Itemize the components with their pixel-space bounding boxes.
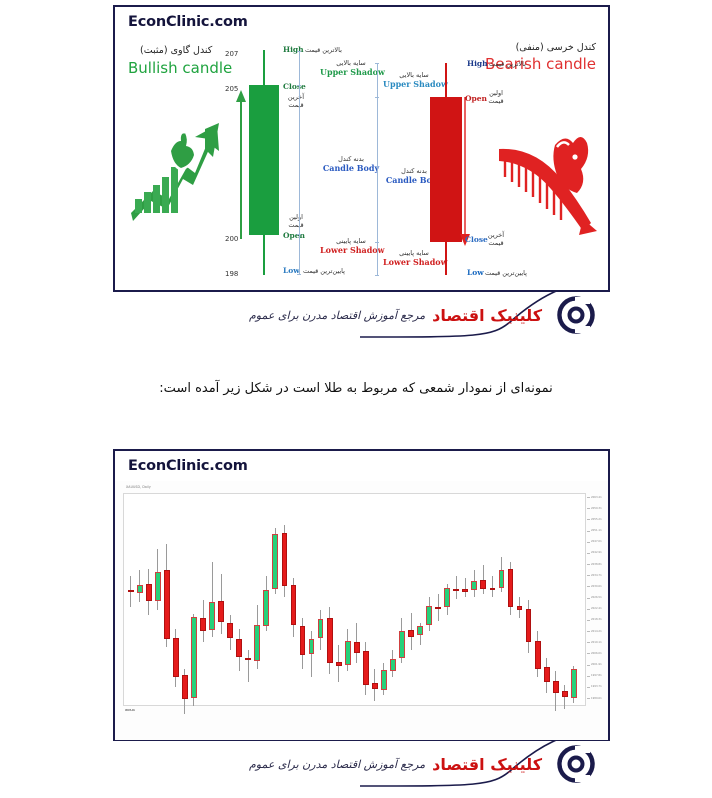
y-axis-tick-label: 2034.71 (591, 574, 602, 577)
bullish-close-label: Close (283, 82, 306, 91)
y-axis-tick-label: 2063.41 (591, 496, 602, 499)
candle-body-up (499, 570, 505, 587)
bearish-low-label-fa: پایین‌ترین قیمت (485, 269, 527, 277)
part-label-left-0: سایه بالاییUpper Shadow (320, 59, 382, 77)
bearish-high-label: High (467, 59, 488, 68)
y-axis-tick-label: 2030.61 (591, 585, 602, 588)
candle-body-up (318, 619, 324, 638)
candle-body-down (480, 580, 486, 589)
candle-body-up (417, 626, 423, 635)
y-axis-tick-mark (587, 575, 590, 576)
footer-tagline: مرجع آموزش اقتصاد مدرن برای عموم (249, 309, 425, 322)
candle-body-down (227, 623, 233, 638)
part-label-fa: سایه پایینی (383, 249, 445, 257)
candle-body-up (345, 641, 351, 665)
y-axis-tick-label: 2038.81 (591, 563, 602, 566)
brace-tick (375, 275, 379, 276)
part-label-left-2: سایه پایینیLower Shadow (320, 237, 382, 255)
y-axis-tick-mark (587, 642, 590, 643)
candle-body-down (372, 683, 378, 688)
brace-tick (297, 234, 301, 235)
candle-body-down (526, 609, 532, 642)
candle-body-down (336, 662, 342, 666)
candle-body-up (191, 617, 197, 698)
candle-wick (492, 576, 493, 597)
bearish-high-label-fa: بالاترین قیمت (489, 60, 526, 68)
bullish-title-fa: کندل گاوی (مثبت) (140, 45, 212, 56)
site-brand-label-2: EconClinic.com (128, 458, 248, 474)
figure-candle-anatomy: EconClinic.com کندل گاوی (مثبت)Bullish c… (113, 5, 610, 292)
part-label-fa: سایه بالایی (383, 71, 445, 79)
circular-ec-logo-icon-2 (556, 744, 596, 784)
brace-tick (375, 63, 379, 64)
price-axis-label: 198 (225, 270, 238, 278)
candle-wick (456, 576, 457, 600)
candle-body-up (571, 669, 577, 698)
bullish-high-label: High (283, 45, 304, 54)
bullish-high-label-fa: بالاترین قیمت (305, 46, 342, 54)
bullish-close-label-fa: آخرینقیمت (283, 93, 309, 109)
candle-body-down (282, 533, 288, 586)
candle-body-down (553, 681, 559, 693)
candle-wick (465, 578, 466, 597)
part-label-right-0: سایه بالاییUpper Shadow (383, 71, 445, 89)
y-axis-tick-label: 2018.31 (591, 618, 602, 621)
candle-body-up (390, 659, 396, 671)
y-axis-tick-mark (587, 542, 590, 543)
candle-body-down (490, 588, 496, 590)
candle-body-down (562, 691, 568, 696)
figure-gold-candlestick-chart: EconClinic.com XAUUSD, Daily2063.412059.… (113, 449, 610, 741)
chart-title: XAUUSD, Daily (126, 485, 151, 489)
candle-body-down (164, 570, 170, 639)
bullish-candle-body (249, 85, 279, 235)
part-label-left-1: بدنه کندلCandle Body (320, 155, 382, 173)
bullish-title-en: Bullish candle (128, 59, 232, 77)
candle-wick (248, 650, 249, 682)
candle-body-down (517, 606, 523, 610)
candle-body-up (137, 585, 143, 593)
y-axis-tick-label: 2010.11 (591, 641, 602, 644)
candle-body-down (363, 651, 369, 684)
y-axis-tick-label: 2055.21 (591, 518, 602, 521)
bearish-title-fa: کندل خرسی (منفی) (516, 42, 596, 53)
bear-with-falling-bars-icon (495, 127, 600, 242)
y-axis-tick-mark (587, 564, 590, 565)
y-axis-tick-mark (587, 586, 590, 587)
y-axis-tick-label: 2042.91 (591, 551, 602, 554)
bullish-open-label: Open (283, 231, 305, 240)
candle-body-down (173, 638, 179, 677)
candle-body-up (471, 581, 477, 590)
part-label-en: Candle Body (320, 163, 382, 173)
candle-body-down (200, 618, 206, 631)
chart-canvas: XAUUSD, Daily2063.412059.312055.212051.1… (115, 481, 608, 740)
y-axis-tick-label: 1989.61 (591, 697, 602, 700)
candle-body-down (354, 642, 360, 653)
y-axis-tick-label: 2047.01 (591, 540, 602, 543)
candle-body-down (236, 639, 242, 656)
candle-body-up (254, 625, 260, 661)
candle-body-up (399, 631, 405, 658)
candle-body-down (182, 675, 188, 699)
y-axis-tick-mark (587, 519, 590, 520)
y-axis-tick-label: 2022.41 (591, 607, 602, 610)
x-axis-tick-label: 2024.01 (125, 709, 135, 712)
panel-header: EconClinic.com (115, 7, 608, 37)
candle-wick (564, 685, 565, 709)
brace-tick (375, 97, 379, 98)
figure-caption: نمونه‌ای از نمودار شمعی که مربوط به طلا … (0, 381, 712, 396)
candle-body-down (245, 658, 251, 660)
y-axis-tick-mark (587, 665, 590, 666)
bearish-low-label: Low (467, 268, 484, 277)
y-axis-tick-mark (587, 497, 590, 498)
y-axis-tick-mark (587, 687, 590, 688)
figure-panel-2: EconClinic.com XAUUSD, Daily2063.412059.… (113, 449, 610, 741)
candle-body-up (444, 588, 450, 608)
part-label-en: Lower Shadow (320, 245, 382, 255)
part-label-right-2: سایه پایینیLower Shadow (383, 249, 445, 267)
footer-brand-name-2: کلینیک اقتصاد (432, 755, 542, 774)
candle-body-up (309, 639, 315, 654)
panel-header-2: EconClinic.com (115, 451, 608, 481)
site-brand-label: EconClinic.com (128, 14, 248, 30)
figure-footer: مرجع آموزش اقتصاد مدرن برای عموم کلینیک … (113, 292, 610, 338)
candle-body-up (209, 602, 215, 630)
price-axis-label: 207 (225, 50, 238, 58)
y-axis-tick-label: 2026.51 (591, 596, 602, 599)
brace-tick (297, 51, 301, 52)
candle-body-down (544, 667, 550, 682)
candle-body-down (453, 589, 459, 591)
y-axis-tick-label: 2006.01 (591, 652, 602, 655)
candle-body-up (381, 670, 387, 690)
candle-body-down (146, 584, 152, 601)
y-axis-tick-mark (587, 553, 590, 554)
y-axis-tick-mark (587, 631, 590, 632)
candle-body-down (128, 590, 134, 592)
footer-tagline-2: مرجع آموزش اقتصاد مدرن برای عموم (249, 758, 425, 771)
y-axis-tick-mark (587, 620, 590, 621)
bearish-measure-brace (377, 63, 378, 275)
candle-body-down (462, 589, 468, 592)
y-axis-tick-mark (587, 598, 590, 599)
candle-body-down (300, 626, 306, 655)
candle-body-up (155, 572, 161, 601)
y-axis-tick-mark (587, 653, 590, 654)
brace-tick (297, 274, 301, 275)
candle-body-down (535, 641, 541, 669)
candle-body-down (218, 601, 224, 622)
footer-brand-name: کلینیک اقتصاد (432, 306, 542, 325)
candle-body-down (327, 618, 333, 663)
part-label-fa: سایه بالایی (320, 59, 382, 67)
part-label-en: Lower Shadow (383, 257, 445, 267)
part-label-en: Upper Shadow (383, 79, 445, 89)
part-label-fa: بدنه کندل (320, 155, 382, 163)
candle-body-up (272, 534, 278, 589)
y-axis-tick-mark (587, 676, 590, 677)
y-axis-tick-label: 2059.31 (591, 507, 602, 510)
part-label-fa: سایه پایینی (320, 237, 382, 245)
brace-tick (297, 85, 301, 86)
bearish-candle-body (430, 97, 462, 242)
figure-footer-2: مرجع آموزش اقتصاد مدرن برای عموم کلینیک … (113, 741, 610, 787)
candle-body-down (435, 607, 441, 609)
circular-ec-logo-icon (556, 295, 596, 335)
y-axis-tick-label: 2014.21 (591, 630, 602, 633)
up-arrow-icon (235, 89, 247, 239)
y-axis-tick-mark (587, 531, 590, 532)
candle-body-up (263, 590, 269, 626)
brace-tick (375, 242, 379, 243)
y-axis-tick-mark (587, 609, 590, 610)
part-label-en: Upper Shadow (320, 67, 382, 77)
down-arrow-icon (459, 97, 471, 247)
bull-with-rising-bars-icon (123, 95, 223, 225)
y-axis-tick-mark (587, 698, 590, 699)
candle-body-up (426, 606, 432, 625)
diagram-canvas: کندل گاوی (مثبت)Bullish candleکندل خرسی … (115, 37, 608, 291)
candle-body-down (408, 630, 414, 637)
bearish-open-label-fa: اولینقیمت (483, 89, 509, 105)
y-axis-tick-label: 1997.81 (591, 674, 602, 677)
bullish-low-label-fa: پایین‌ترین قیمت (303, 267, 345, 275)
y-axis-tick-label: 1993.71 (591, 685, 602, 688)
y-axis-tick-mark (587, 508, 590, 509)
document-page: EconClinic.com کندل گاوی (مثبت)Bullish c… (0, 0, 712, 798)
y-axis-tick-label: 2051.11 (591, 529, 602, 532)
bullish-open-label-fa: اولینقیمت (283, 213, 309, 229)
y-axis-tick-label: 2001.91 (591, 663, 602, 666)
candle-body-down (291, 585, 297, 625)
figure-panel: EconClinic.com کندل گاوی (مثبت)Bullish c… (113, 5, 610, 292)
candle-body-down (508, 569, 514, 608)
